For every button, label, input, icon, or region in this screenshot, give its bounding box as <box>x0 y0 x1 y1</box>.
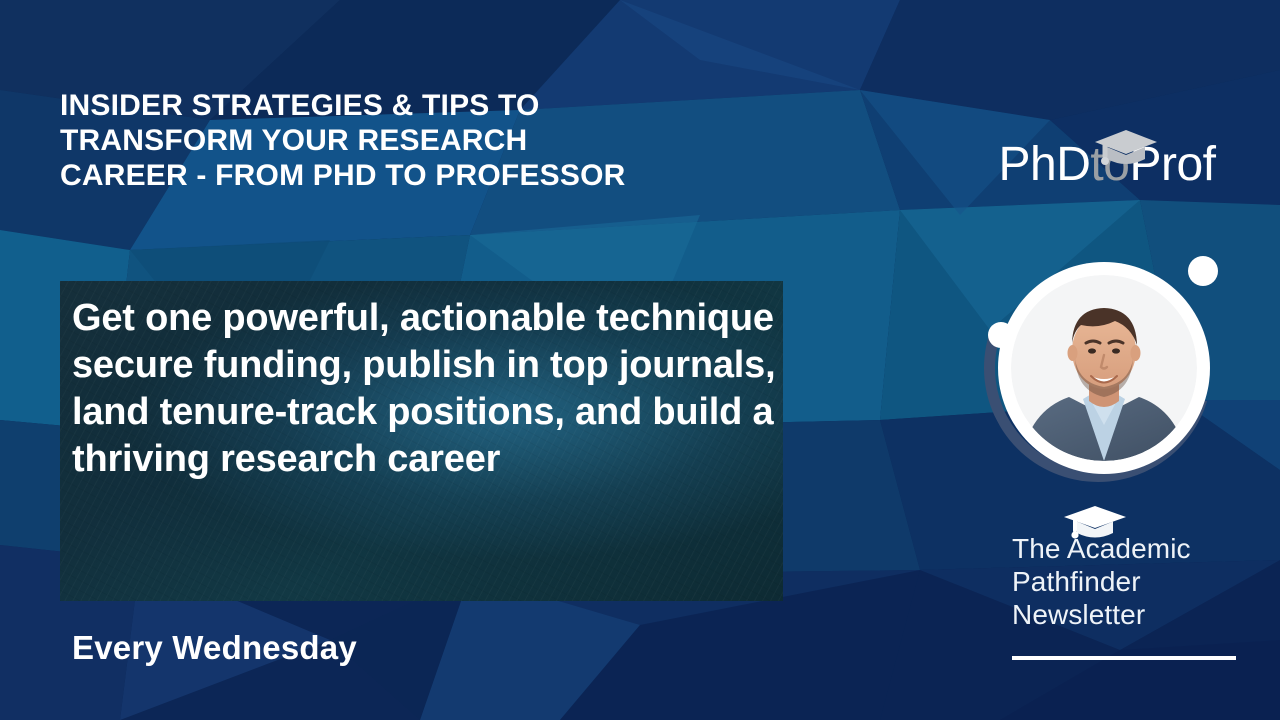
value-proposition-text: Get one powerful, actionable technique t… <box>60 281 783 483</box>
page-title: INSIDER STRATEGIES & TIPS TO TRANSFORM Y… <box>60 88 920 193</box>
brand-wordmark-phd: PhD <box>999 138 1091 191</box>
graduation-cap-icon <box>1062 504 1128 544</box>
avatar-white-ring <box>998 262 1210 474</box>
newsletter-divider <box>1012 656 1236 660</box>
avatar-photo <box>1011 275 1197 461</box>
value-proposition-panel: Get one powerful, actionable technique t… <box>60 281 783 601</box>
newsletter-brand-block: The Academic Pathfinder Newsletter <box>1012 532 1244 631</box>
avatar <box>998 262 1226 490</box>
schedule-label: Every Wednesday <box>72 629 357 667</box>
graduation-cap-icon <box>1093 128 1159 170</box>
brand-logo[interactable]: PhDtoProf <box>962 130 1252 200</box>
promo-slide: INSIDER STRATEGIES & TIPS TO TRANSFORM Y… <box>0 0 1280 720</box>
newsletter-title: The Academic Pathfinder Newsletter <box>1012 532 1244 631</box>
